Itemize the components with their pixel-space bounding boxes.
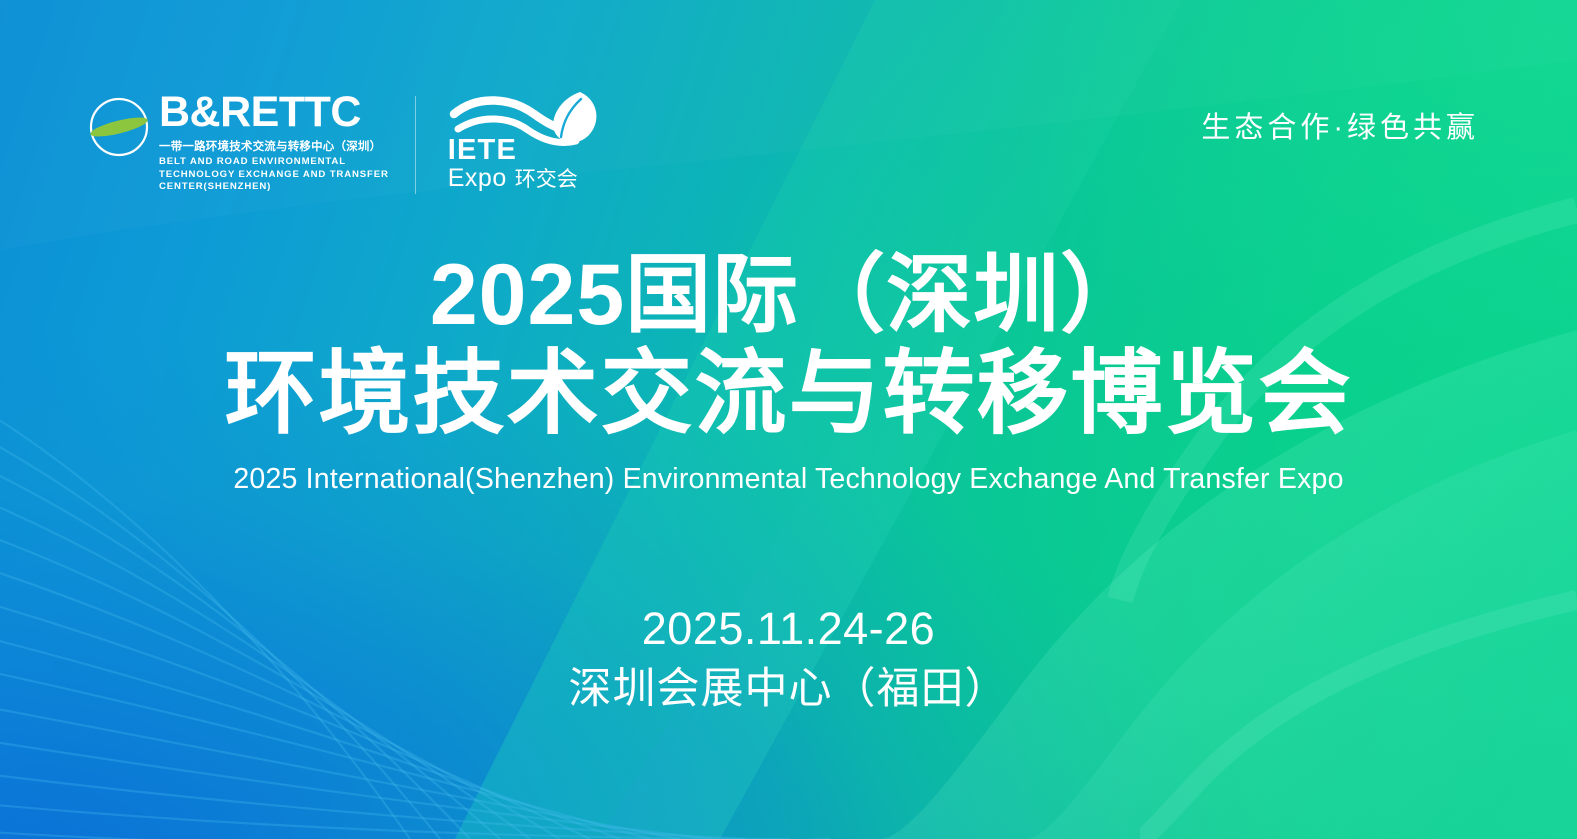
tagline: 生态合作·绿色共赢 bbox=[1201, 104, 1479, 146]
iete-logo: IETE Expo 环交会 bbox=[442, 92, 602, 196]
brettc-wordmark: B&RETTC bbox=[159, 92, 389, 133]
brettc-text-block: B&RETTC 一带一路环境技术交流与转移中心（深圳） BELT AND ROA… bbox=[159, 92, 389, 194]
logo-group: B&RETTC 一带一路环境技术交流与转移中心（深圳） BELT AND ROA… bbox=[88, 92, 602, 196]
main-title-block: 2025国际（深圳） 环境技术交流与转移博览会 2025 Internation… bbox=[0, 250, 1577, 496]
iete-expo-word: Expo bbox=[448, 166, 507, 191]
brettc-logo: B&RETTC 一带一路环境技术交流与转移中心（深圳） BELT AND ROA… bbox=[88, 92, 389, 194]
brettc-english-line-2: TECHNOLOGY EXCHANGE AND TRANSFER bbox=[159, 169, 389, 182]
title-line-2: 环境技术交流与转移博览会 bbox=[0, 345, 1577, 444]
event-date: 2025.11.24-26 bbox=[0, 600, 1577, 658]
title-line-1: 2025国际（深圳） bbox=[0, 250, 1577, 341]
event-meta-block: 2025.11.24-26 深圳会展中心（福田） bbox=[0, 600, 1577, 717]
banner-header: B&RETTC 一带一路环境技术交流与转移中心（深圳） BELT AND ROA… bbox=[0, 0, 1577, 210]
brettc-english-line-3: CENTER(SHENZHEN) bbox=[159, 181, 389, 194]
brettc-chinese-name: 一带一路环境技术交流与转移中心（深圳） bbox=[159, 138, 389, 154]
subtitle-english: 2025 International(Shenzhen) Environment… bbox=[0, 463, 1577, 496]
event-banner: B&RETTC 一带一路环境技术交流与转移中心（深圳） BELT AND ROA… bbox=[0, 0, 1577, 839]
logo-divider bbox=[415, 96, 416, 194]
iete-subline: Expo 环交会 bbox=[448, 166, 578, 191]
iete-wordmark: IETE bbox=[448, 136, 517, 165]
brettc-english-line-1: BELT AND ROAD ENVIRONMENTAL bbox=[159, 156, 389, 169]
event-venue: 深圳会展中心（福田） bbox=[0, 662, 1577, 717]
iete-chinese-short: 环交会 bbox=[515, 169, 578, 190]
globe-icon bbox=[88, 96, 150, 158]
